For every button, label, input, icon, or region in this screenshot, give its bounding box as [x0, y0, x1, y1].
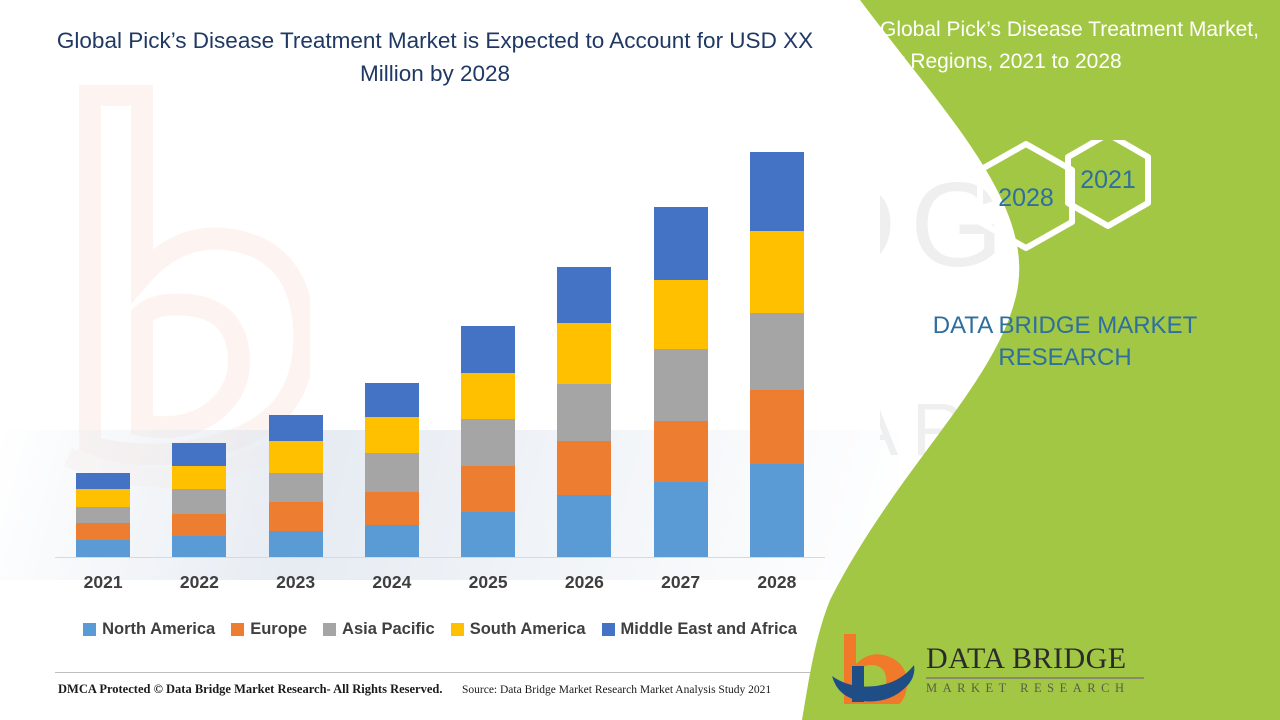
bar-segment	[750, 313, 804, 391]
hexagon-badges: 2028 2021	[940, 140, 1190, 285]
bar-segment	[269, 441, 323, 473]
x-axis-label: 2021	[55, 572, 151, 593]
bar-segment	[750, 231, 804, 313]
legend-label: Europe	[250, 620, 307, 639]
bar-segment	[557, 441, 611, 495]
bar-chart-plot	[55, 120, 825, 558]
bar-segment	[557, 323, 611, 384]
legend-swatch-icon	[451, 623, 464, 636]
bar-segment	[76, 507, 130, 523]
bar-segment	[76, 489, 130, 507]
bar-stack	[172, 443, 226, 558]
brand-name: DATA BRIDGE MARKET RESEARCH	[880, 310, 1250, 374]
bar-segment	[750, 152, 804, 231]
legend-item[interactable]: Europe	[231, 620, 307, 639]
legend-swatch-icon	[231, 623, 244, 636]
x-axis-label: 2027	[633, 572, 729, 593]
x-axis-label: 2023	[248, 572, 344, 593]
bar-column	[440, 120, 536, 558]
bar-segment	[365, 492, 419, 525]
bar-stack	[269, 415, 323, 558]
data-bridge-logo-icon	[830, 630, 916, 704]
bar-segment	[172, 536, 226, 558]
bar-segment	[269, 415, 323, 441]
x-axis-labels: 20212022202320242025202620272028	[55, 572, 825, 598]
x-axis-label: 2024	[344, 572, 440, 593]
legend-item[interactable]: North America	[83, 620, 215, 639]
copyright-text: DMCA Protected © Data Bridge Market Rese…	[58, 682, 443, 697]
x-axis-line	[55, 557, 825, 558]
bar-segment	[365, 525, 419, 558]
legend-swatch-icon	[323, 623, 336, 636]
bar-segment	[461, 373, 515, 419]
bar-segment	[557, 384, 611, 441]
bar-segment	[365, 417, 419, 453]
bar-stack	[76, 473, 130, 558]
bar-stack	[365, 383, 419, 558]
bar-stack	[654, 207, 708, 558]
data-bridge-logo: DATA BRIDGE MARKET RESEARCH	[830, 628, 1250, 706]
legend-item[interactable]: Asia Pacific	[323, 620, 435, 639]
legend-label: North America	[102, 620, 215, 639]
bar-segment	[654, 207, 708, 280]
bar-segment	[654, 280, 708, 349]
bar-segment	[269, 502, 323, 530]
legend-swatch-icon	[83, 623, 96, 636]
hexagon-2021-label: 2021	[1080, 166, 1136, 194]
page-title: Global Pick’s Disease Treatment Market i…	[55, 24, 815, 90]
bar-segment	[172, 443, 226, 466]
logo-secondary-text: MARKET RESEARCH	[926, 681, 1144, 696]
bar-segment	[76, 540, 130, 558]
x-axis-label: 2025	[440, 572, 536, 593]
legend-item[interactable]: South America	[451, 620, 586, 639]
green-panel-content: Global Pick’s Disease Treatment Market, …	[800, 0, 1280, 720]
bar-segment	[654, 421, 708, 482]
hexagon-2028-label: 2028	[998, 184, 1054, 212]
footer-divider	[55, 672, 825, 673]
bar-segment	[461, 419, 515, 466]
bar-column	[536, 120, 632, 558]
chart-panel: Global Pick’s Disease Treatment Market i…	[0, 0, 880, 720]
bar-segment	[654, 349, 708, 421]
bar-segment	[365, 383, 419, 417]
legend-label: South America	[470, 620, 586, 639]
bar-segment	[76, 473, 130, 489]
bar-stack	[557, 267, 611, 558]
bar-segment	[172, 466, 226, 489]
bar-segment	[557, 495, 611, 559]
bar-stack	[461, 326, 515, 558]
legend-item[interactable]: Middle East and Africa	[602, 620, 797, 639]
bar-column	[633, 120, 729, 558]
bar-column	[344, 120, 440, 558]
bar-segment	[76, 523, 130, 541]
legend-swatch-icon	[602, 623, 615, 636]
bar-segment	[750, 464, 804, 558]
bar-segment	[269, 473, 323, 503]
bar-segment	[461, 512, 515, 558]
x-axis-label: 2022	[151, 572, 247, 593]
bar-segment	[172, 514, 226, 536]
bar-column	[248, 120, 344, 558]
bar-stack	[750, 152, 804, 558]
bar-segment	[172, 489, 226, 514]
chart-legend: North AmericaEuropeAsia PacificSouth Ame…	[55, 617, 825, 641]
x-axis-label: 2026	[536, 572, 632, 593]
panel-title: Global Pick’s Disease Treatment Market, …	[880, 14, 1270, 78]
source-text: Source: Data Bridge Market Research Mark…	[462, 684, 771, 696]
bar-segment	[557, 267, 611, 323]
bar-column	[151, 120, 247, 558]
bar-segment	[269, 531, 323, 558]
bar-column	[55, 120, 151, 558]
legend-label: Middle East and Africa	[621, 620, 797, 639]
logo-divider	[926, 677, 1144, 679]
legend-label: Asia Pacific	[342, 620, 435, 639]
bar-segment	[461, 466, 515, 512]
bar-segment	[750, 390, 804, 463]
logo-primary-text: DATA BRIDGE	[926, 642, 1144, 676]
bar-segment	[365, 453, 419, 492]
bar-segment	[461, 326, 515, 373]
bar-segment	[654, 482, 708, 558]
